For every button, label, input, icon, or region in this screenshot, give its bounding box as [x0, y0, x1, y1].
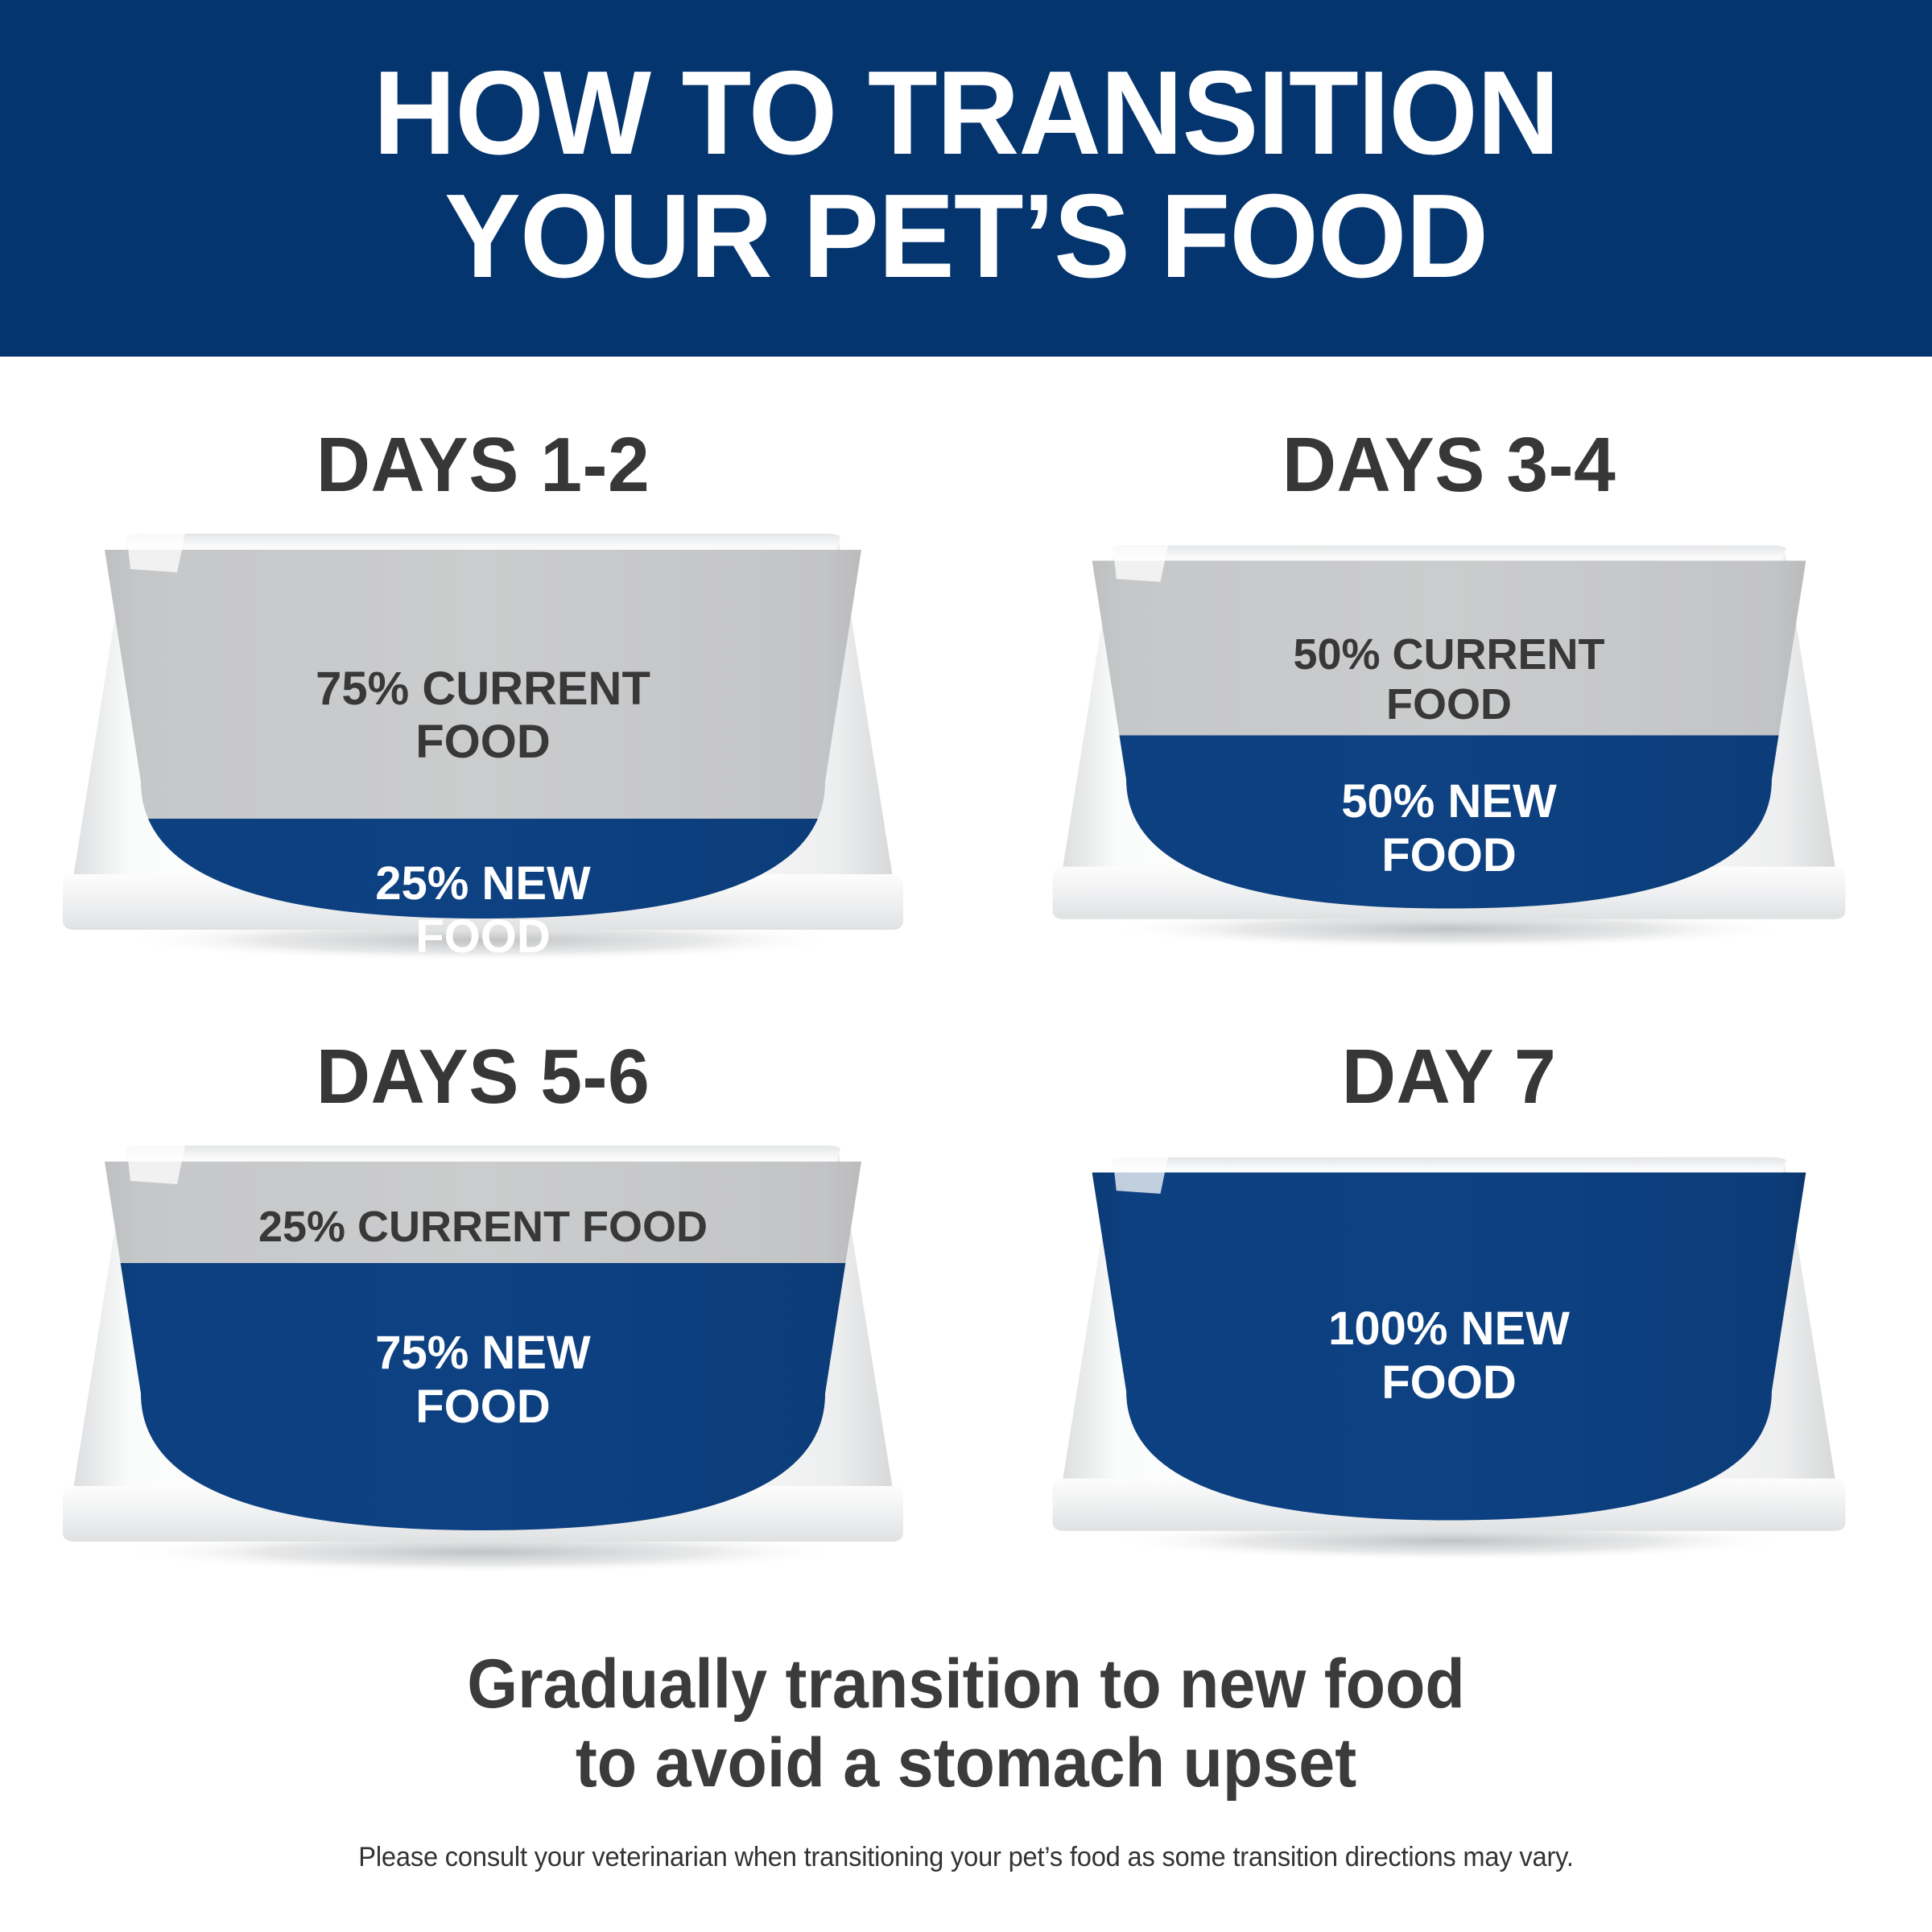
- bowl-illustration: [0, 1128, 966, 1627]
- header-banner: HOW TO TRANSITION YOUR PET’S FOOD: [0, 0, 1932, 357]
- step-card-days-5-6: DAYS 5-6 25% CURRENT FOOD: [0, 1033, 966, 1645]
- bowl-illustration: [0, 516, 966, 1015]
- bowl-illustration: [966, 1128, 1932, 1627]
- step-day-label: DAYS 3-4: [980, 421, 1918, 510]
- bowl-svg: [1046, 1128, 1851, 1579]
- tagline-line-2: to avoid a stomach upset: [58, 1724, 1874, 1802]
- bowl-svg: [56, 1128, 910, 1579]
- step-day-label: DAY 7: [980, 1033, 1918, 1121]
- tagline: Gradually transition to new food to avoi…: [58, 1645, 1874, 1802]
- step-card-days-3-4: DAYS 3-4 50% CURRENT: [966, 421, 1932, 1033]
- bowl-svg: [56, 516, 910, 967]
- page-title-line-1: HOW TO TRANSITION: [374, 52, 1559, 175]
- transition-steps-grid: DAYS 1-2: [0, 357, 1932, 1612]
- tagline-line-1: Gradually transition to new food: [58, 1645, 1874, 1724]
- disclaimer-text: Please consult your veterinarian when tr…: [39, 1842, 1893, 1873]
- bowl-svg: [1046, 516, 1851, 967]
- step-card-day-7: DAY 7 100% NEW: [966, 1033, 1932, 1645]
- bowl-illustration: [966, 516, 1932, 1015]
- step-card-days-1-2: DAYS 1-2: [0, 421, 966, 1033]
- page-title-line-2: YOUR PET’S FOOD: [374, 175, 1559, 298]
- step-day-label: DAYS 1-2: [14, 421, 952, 510]
- page-title: HOW TO TRANSITION YOUR PET’S FOOD: [374, 52, 1559, 298]
- step-day-label: DAYS 5-6: [14, 1033, 952, 1121]
